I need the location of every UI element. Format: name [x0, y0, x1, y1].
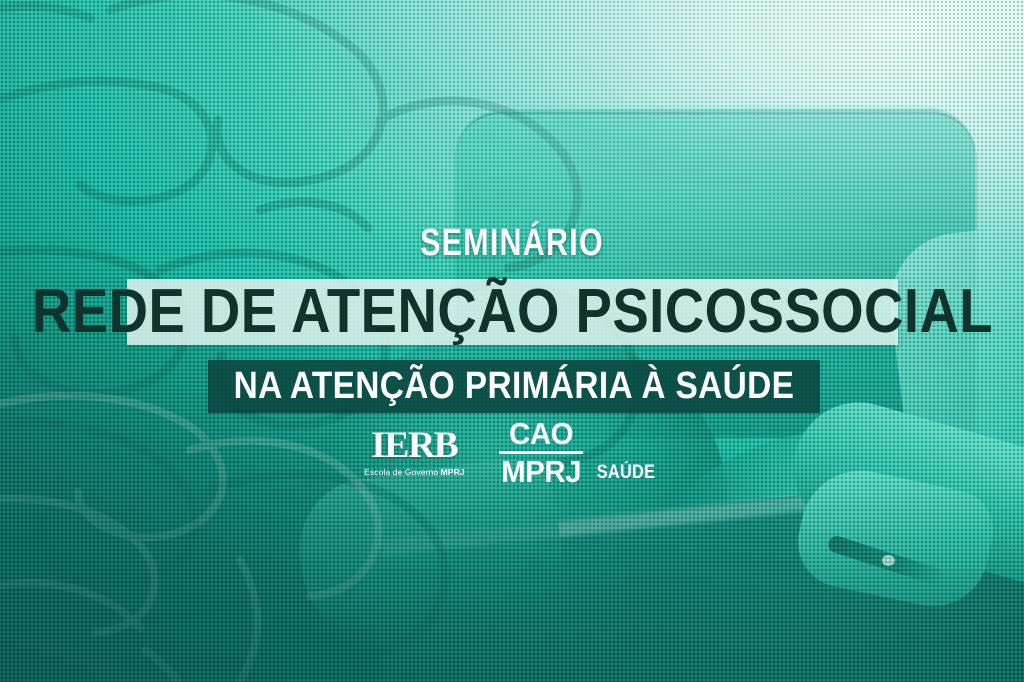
ierb-wordmark: IERB — [371, 427, 457, 464]
logo-row: IERB Escola de Governo MPRJ CAO MPRJ SAÚ… — [0, 424, 1024, 480]
seminar-poster: SEMINÁRIO REDE DE ATENÇÃO PSICOSSOCIAL N… — [0, 0, 1024, 682]
ierb-logo: IERB Escola de Governo MPRJ — [364, 427, 464, 477]
kicker-seminario: SEMINÁRIO — [102, 222, 921, 264]
ierb-tagline: Escola de Governo MPRJ — [364, 467, 464, 477]
ierb-tagline-mprj: MPRJ — [441, 467, 465, 477]
mprj-wordmark: MPRJ — [501, 456, 581, 487]
subhead-title: NA ATENÇÃO PRIMÁRIA À SAÚDE — [245, 357, 784, 415]
cao-wordmark: CAO — [501, 418, 581, 449]
ierb-tagline-prefix: Escola de Governo — [364, 467, 440, 477]
cao-mprj-logo: CAO MPRJ SAÚDE — [499, 418, 660, 487]
cao-stack: CAO MPRJ — [499, 418, 583, 487]
cao-saude-label: SAÚDE — [597, 463, 655, 487]
title-block: SEMINÁRIO REDE DE ATENÇÃO PSICOSSOCIAL N… — [0, 0, 1024, 682]
headline-title: REDE DE ATENÇÃO PSICOSSOCIAL — [173, 275, 851, 349]
